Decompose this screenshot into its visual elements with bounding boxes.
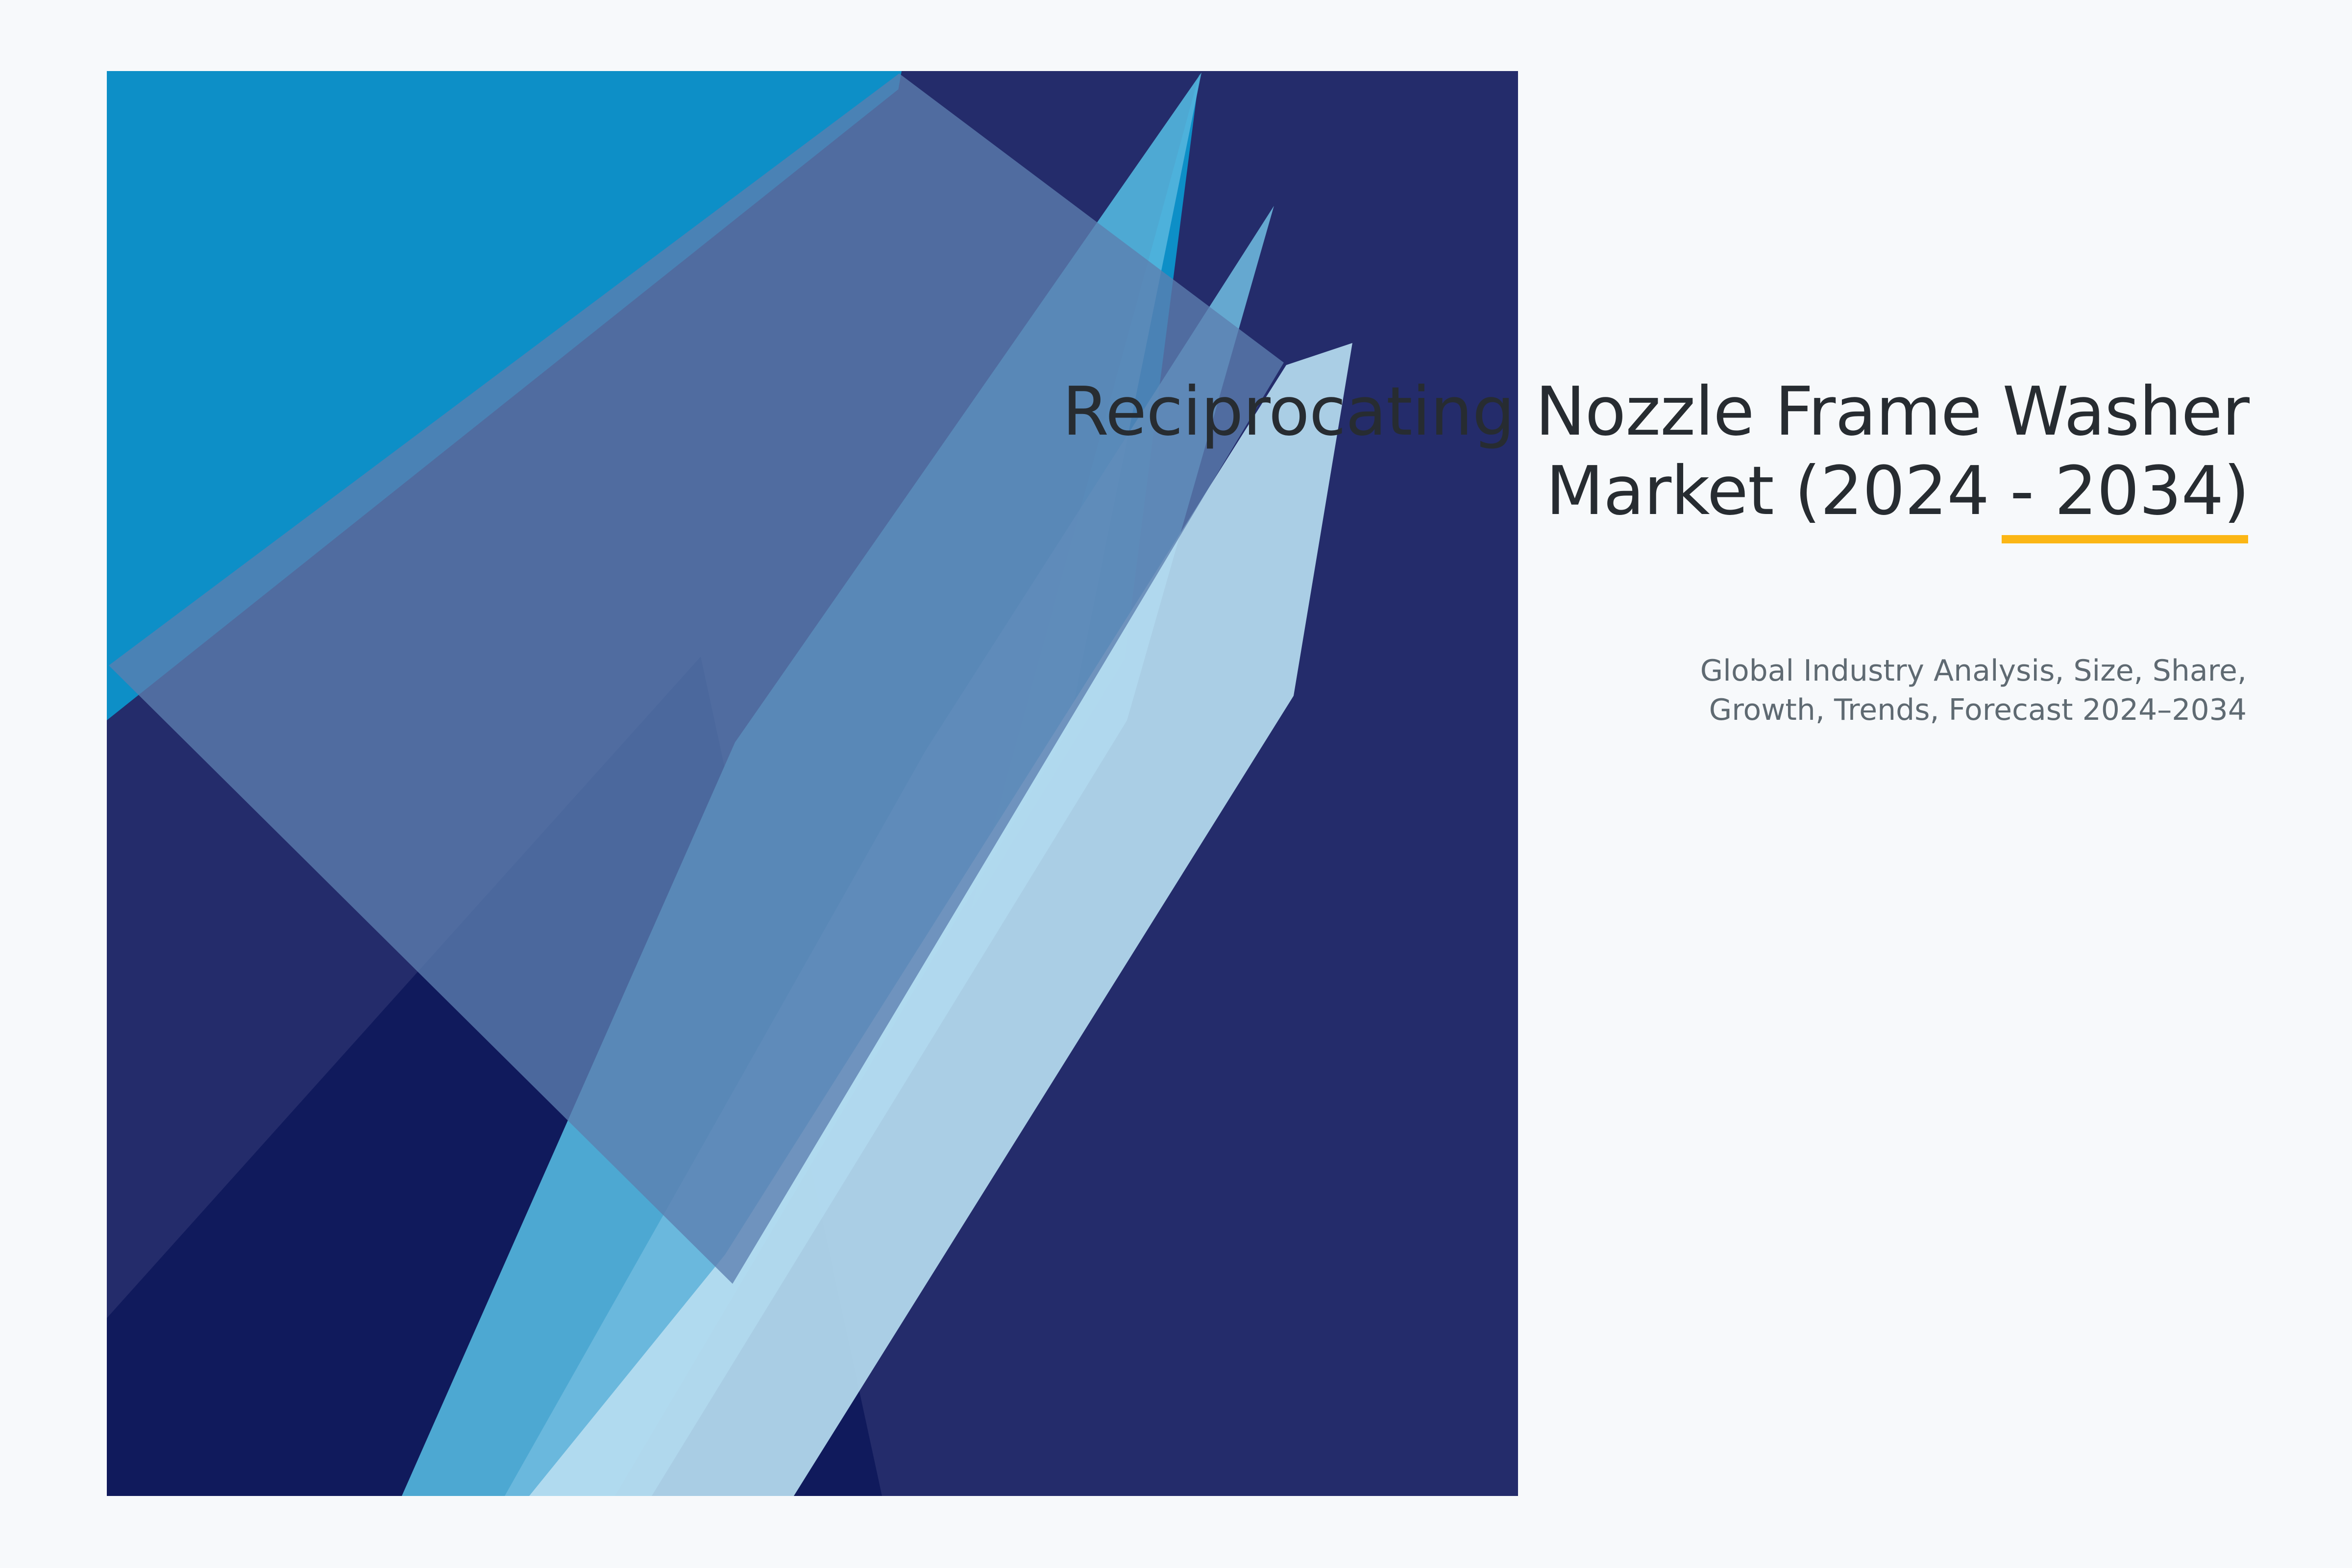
cover-text-block: Reciprocating Nozzle Frame Washer Market… xyxy=(833,372,2249,531)
report-cover-page: Reciprocating Nozzle Frame Washer Market… xyxy=(0,0,2352,1568)
slate-blue-overlay-quad xyxy=(109,73,1284,1284)
sky-blue-diagonal-band xyxy=(402,73,1201,1496)
navy-diagonal-wedge xyxy=(107,71,1518,1496)
title-accent-underline xyxy=(2002,535,2248,543)
abstract-angular-cover-graphic xyxy=(0,0,2352,1568)
deep-navy-lower-wedge xyxy=(107,657,882,1496)
cyan-backdrop-block xyxy=(107,71,1518,1496)
page-title: Reciprocating Nozzle Frame Washer Market… xyxy=(833,372,2249,531)
page-subtitle: Global Industry Analysis, Size, Share, G… xyxy=(1274,652,2247,730)
